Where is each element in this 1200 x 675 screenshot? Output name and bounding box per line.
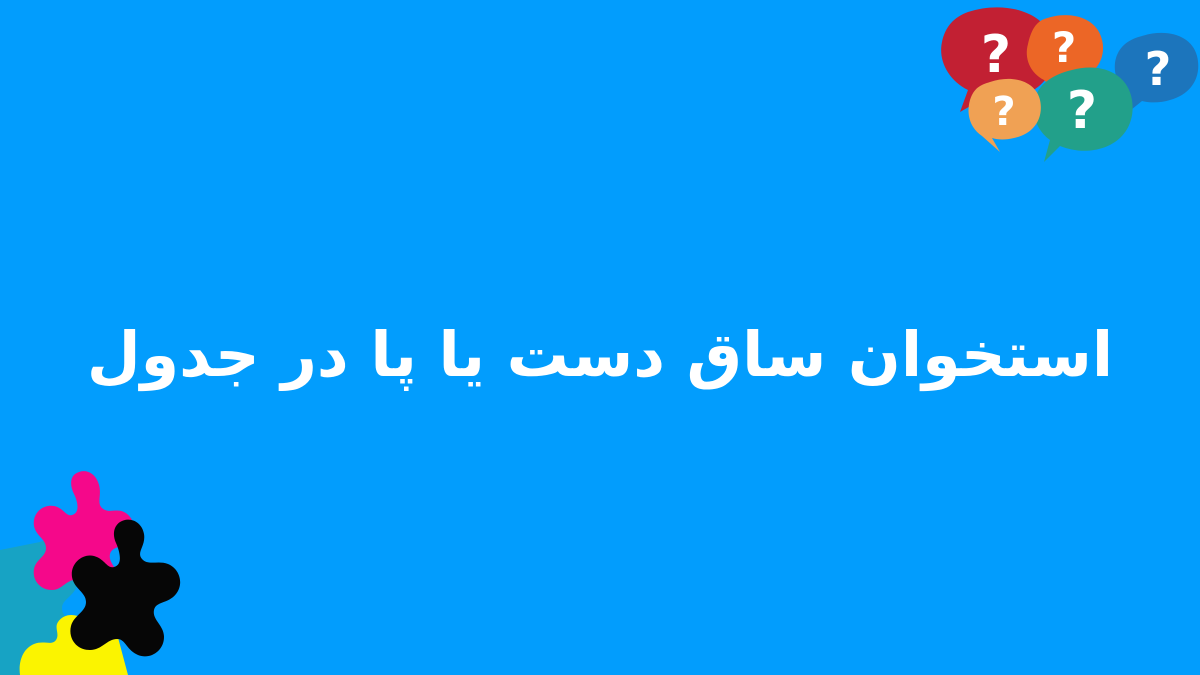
yellow-puzzle-piece: [20, 615, 128, 675]
headline-container: استخوان ساق دست یا پا در جدول: [0, 300, 1200, 410]
blue-bubble: ?: [1115, 33, 1198, 114]
orange-bubble: ?: [1027, 15, 1103, 96]
light-orange-bubble: ?: [969, 79, 1041, 152]
banner-canvas: ? ? ? ? ?: [0, 0, 1200, 675]
question-bubble-cluster-svg: ? ? ? ? ?: [910, 0, 1200, 175]
pink-puzzle-piece: [34, 471, 134, 595]
black-puzzle-piece: [70, 520, 180, 657]
red-bubble-question-icon: ?: [981, 25, 1011, 85]
orange-bubble-question-icon: ?: [1052, 23, 1076, 72]
page-title: استخوان ساق دست یا پا در جدول: [87, 317, 1113, 393]
light-orange-bubble-question-icon: ?: [992, 89, 1015, 135]
puzzle-piece-cluster: [0, 460, 230, 675]
puzzle-piece-cluster-svg: [0, 460, 230, 675]
question-bubble-cluster: ? ? ? ? ?: [910, 0, 1200, 175]
teal-puzzle-piece: [0, 541, 78, 675]
red-bubble: ?: [941, 7, 1055, 112]
teal-bubble: ?: [1034, 68, 1133, 162]
blue-bubble-question-icon: ?: [1145, 42, 1172, 96]
teal-bubble-question-icon: ?: [1067, 81, 1097, 141]
